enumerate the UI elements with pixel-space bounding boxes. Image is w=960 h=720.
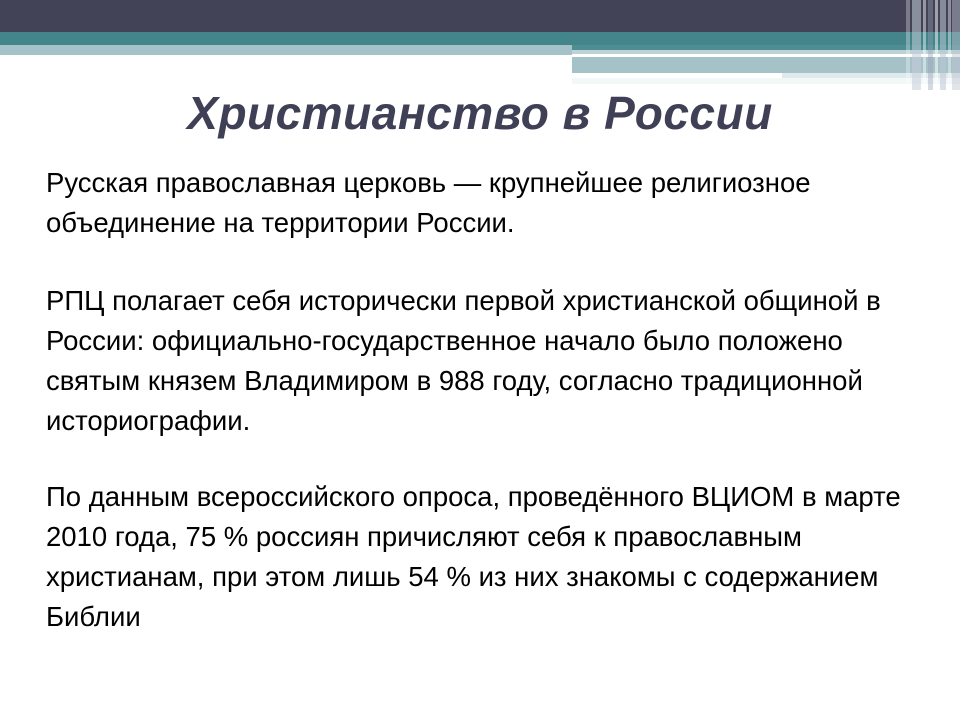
header-band-softblue-right — [572, 57, 960, 73]
body-paragraph-1: Русская православная церковь — крупнейше… — [46, 163, 936, 243]
body-paragraph-2: РПЦ полагает себя исторически первой хри… — [46, 281, 936, 441]
header-band-faint-low — [572, 78, 960, 84]
decorative-header-banner — [0, 0, 960, 90]
header-band-teal — [0, 32, 960, 45]
header-vertical-stripe-1 — [906, 0, 910, 90]
header-vertical-stripe-2 — [912, 0, 921, 90]
header-vertical-stripe-8 — [952, 0, 960, 90]
header-band-lightblue-left — [0, 45, 572, 55]
header-vertical-stripe-6 — [940, 0, 946, 90]
header-vertical-stripe-7 — [948, 0, 951, 90]
header-vertical-stripe-4 — [928, 0, 933, 90]
slide: Христианство в России Русская православн… — [0, 0, 960, 720]
slide-title: Христианство в России — [0, 86, 960, 140]
slide-body: Русская православная церковь — крупнейше… — [46, 163, 936, 637]
header-vertical-stripe-3 — [923, 0, 926, 90]
header-vertical-stripe-5 — [935, 0, 938, 90]
body-paragraph-3: По данным всероссийского опроса, проведё… — [46, 477, 936, 637]
header-band-navy — [0, 0, 960, 32]
